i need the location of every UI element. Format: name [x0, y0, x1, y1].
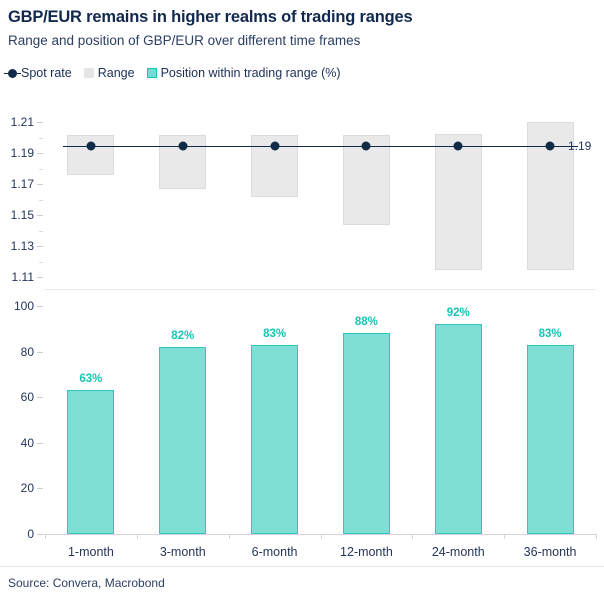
position-bar[interactable]: [67, 390, 114, 534]
y-axis-major-tick: [37, 306, 43, 307]
x-axis-category-label: 12-month: [340, 545, 393, 559]
spot-dot-marker-icon: [8, 69, 17, 78]
position-bar-value-label: 92%: [447, 307, 470, 319]
range-bar[interactable]: [435, 134, 482, 270]
legend-label-position: Position within trading range (%): [161, 66, 341, 80]
y-axis-label-range: 1.15: [0, 208, 34, 222]
teal-square-marker-icon: [147, 68, 157, 78]
footer-divider: [0, 566, 604, 567]
y-axis-label-range: 1.17: [0, 177, 34, 191]
position-bar-value-label: 83%: [263, 328, 286, 340]
spot-rate-line: [63, 146, 577, 147]
y-axis-label-percent: 100: [0, 299, 34, 313]
y-axis-label-range: 1.19: [0, 146, 34, 160]
y-axis-label-range: 1.13: [0, 239, 34, 253]
position-bar[interactable]: [343, 333, 390, 534]
legend-item-range[interactable]: Range: [84, 66, 135, 80]
y-axis-major-tick: [37, 184, 43, 185]
x-axis-tick: [137, 534, 138, 539]
y-axis-label-percent: 80: [0, 345, 34, 359]
y-axis-major-tick: [37, 153, 43, 154]
grey-square-marker-icon: [84, 68, 94, 78]
spot-rate-marker[interactable]: [86, 142, 95, 151]
x-axis-tick: [412, 534, 413, 539]
spot-rate-marker[interactable]: [178, 142, 187, 151]
y-axis-major-tick: [37, 277, 43, 278]
y-axis-major-tick: [37, 122, 43, 123]
x-axis-tick: [504, 534, 505, 539]
source-note: Source: Convera, Macrobond: [8, 576, 165, 590]
x-axis-tick: [229, 534, 230, 539]
y-axis-label-percent: 0: [0, 527, 34, 541]
x-axis-tick: [45, 534, 46, 539]
x-axis-category-label: 24-month: [432, 545, 485, 559]
legend-label-spot-rate: Spot rate: [21, 66, 72, 80]
y-axis-minor-tick: [39, 231, 43, 232]
y-axis-minor-tick: [39, 200, 43, 201]
x-axis-tick: [321, 534, 322, 539]
position-panel: 02040608010063%1-month82%3-month83%6-mon…: [0, 296, 604, 546]
position-bar-value-label: 83%: [539, 328, 562, 340]
y-axis-label-percent: 20: [0, 481, 34, 495]
y-axis-major-tick: [37, 215, 43, 216]
x-axis-category-label: 3-month: [160, 545, 206, 559]
x-axis-category-label: 36-month: [524, 545, 577, 559]
position-bar-value-label: 82%: [171, 330, 194, 342]
y-axis-major-tick: [37, 534, 43, 535]
spot-rate-marker[interactable]: [362, 142, 371, 151]
y-axis-minor-tick: [39, 169, 43, 170]
chart-figure: GBP/EUR remains in higher realms of trad…: [0, 0, 604, 604]
legend-label-range: Range: [98, 66, 135, 80]
y-axis-label-range: 1.11: [0, 270, 34, 284]
y-axis-major-tick: [37, 488, 43, 489]
chart-legend: Spot rate Range Position within trading …: [8, 66, 341, 80]
y-axis-major-tick: [37, 443, 43, 444]
spot-rate-marker[interactable]: [546, 142, 555, 151]
y-axis-label-range: 1.21: [0, 115, 34, 129]
position-bar[interactable]: [435, 324, 482, 534]
position-bar[interactable]: [527, 345, 574, 534]
x-axis-category-label: 6-month: [252, 545, 298, 559]
y-axis-minor-tick: [39, 138, 43, 139]
position-bar[interactable]: [159, 347, 206, 534]
x-axis-category-label: 1-month: [68, 545, 114, 559]
page-title: GBP/EUR remains in higher realms of trad…: [8, 8, 412, 27]
position-bar-value-label: 88%: [355, 316, 378, 328]
y-axis-minor-tick: [39, 262, 43, 263]
spot-rate-marker[interactable]: [454, 142, 463, 151]
legend-item-position[interactable]: Position within trading range (%): [147, 66, 341, 80]
y-axis-label-percent: 60: [0, 390, 34, 404]
y-axis-major-tick: [37, 352, 43, 353]
panel-divider: [44, 289, 596, 290]
y-axis-major-tick: [37, 246, 43, 247]
spot-rate-marker[interactable]: [270, 142, 279, 151]
position-bar[interactable]: [251, 345, 298, 534]
x-axis-tick: [596, 534, 597, 539]
y-axis-label-percent: 40: [0, 436, 34, 450]
spot-rate-value-label: 1.19: [568, 139, 591, 153]
position-bar-value-label: 63%: [79, 373, 102, 385]
y-axis-major-tick: [37, 397, 43, 398]
range-panel: 1.111.131.151.171.191.211.19: [0, 104, 604, 289]
chart-subtitle: Range and position of GBP/EUR over diffe…: [8, 33, 360, 48]
legend-item-spot-rate[interactable]: Spot rate: [8, 66, 72, 80]
